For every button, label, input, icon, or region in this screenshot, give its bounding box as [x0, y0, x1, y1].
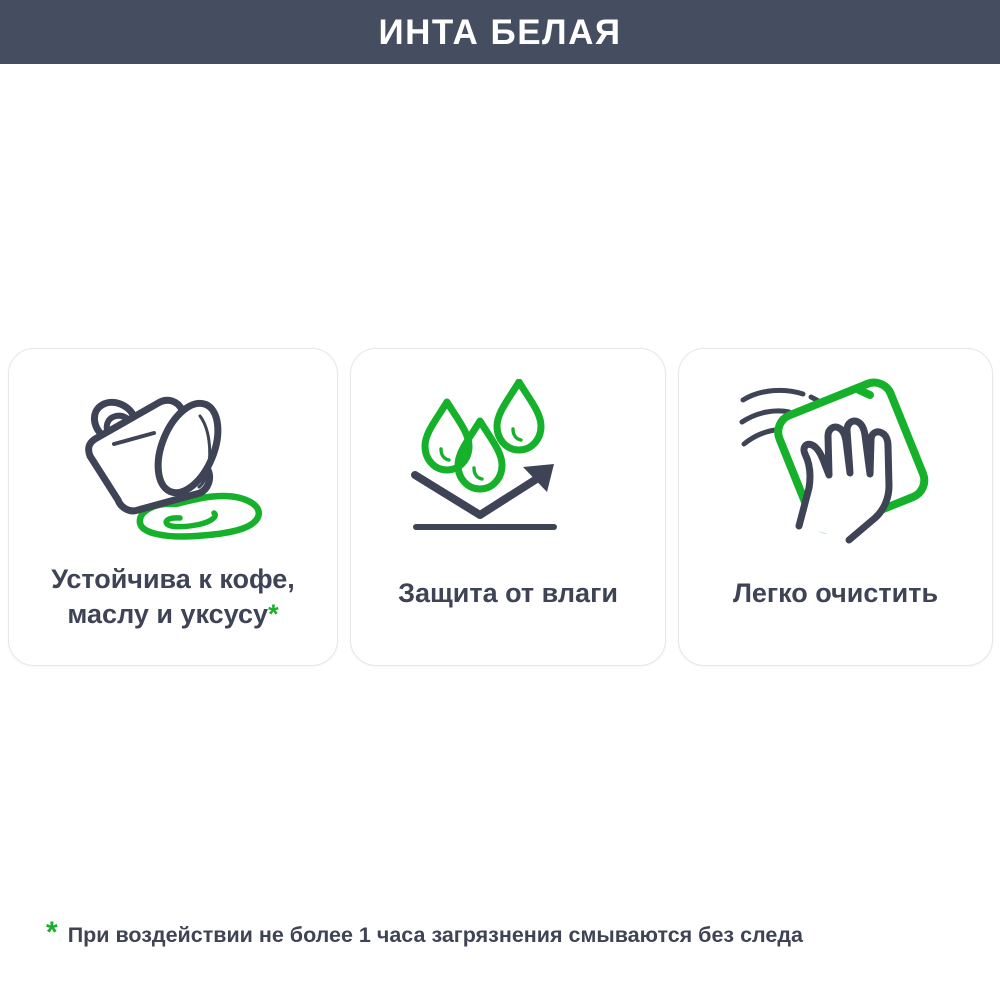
feature-card-moisture-protection[interactable]: Защита от влаги: [350, 348, 666, 666]
footnote-text: При воздействии не более 1 часа загрязне…: [68, 925, 803, 947]
footnote-asterisk-icon: *: [46, 918, 58, 948]
water-repellent-droplets-icon: [406, 379, 611, 544]
page-title: ИНТА БЕЛАЯ: [378, 15, 621, 50]
feature-cards-row: Устойчива к кофе, маслу и уксусу*: [0, 348, 1000, 666]
feature-label-line-1: Защита от влаги: [398, 578, 618, 608]
footnote: * При воздействии не более 1 часа загряз…: [46, 918, 803, 948]
spilled-mug-icon: [68, 383, 278, 548]
feature-label-line-2: маслу и уксусу: [67, 599, 268, 629]
feature-label-line-1: Устойчива к кофе,: [51, 564, 295, 594]
feature-card-label: Легко очистить: [721, 576, 950, 611]
feature-card-stain-resistance[interactable]: Устойчива к кофе, маслу и уксусу*: [8, 348, 338, 666]
header-bar: ИНТА БЕЛАЯ: [0, 0, 1000, 64]
hand-wiping-cloth-icon: [731, 377, 941, 542]
feature-card-label: Устойчива к кофе, маслу и уксусу*: [39, 562, 307, 631]
footnote-asterisk-marker: *: [268, 599, 279, 629]
feature-card-easy-to-clean[interactable]: Легко очистить: [678, 348, 993, 666]
feature-card-label: Защита от влаги: [386, 576, 630, 611]
feature-label-line-1: Легко очистить: [733, 578, 938, 608]
